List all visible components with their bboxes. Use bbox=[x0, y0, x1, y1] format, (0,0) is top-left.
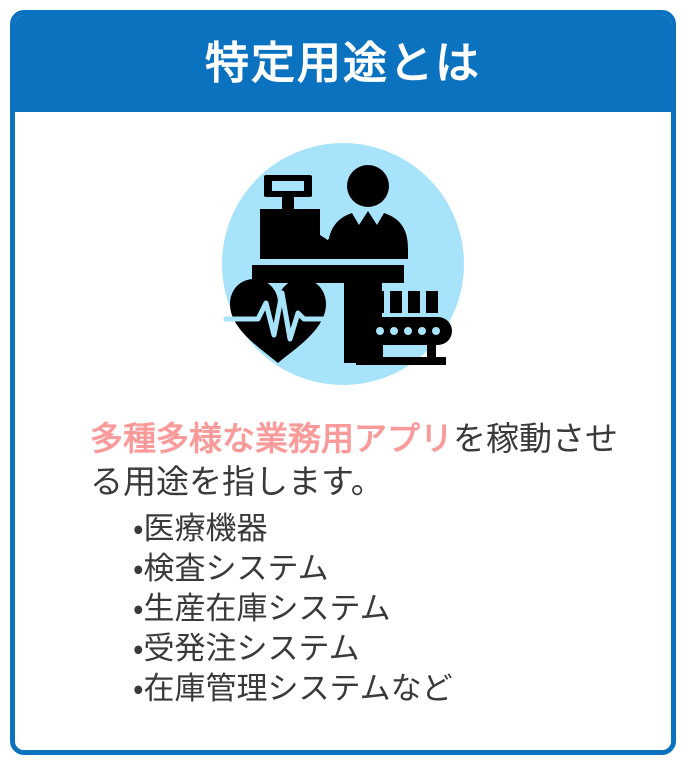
card-header: 特定用途とは bbox=[15, 15, 671, 112]
list-item: ・在庫管理システムなど bbox=[15, 669, 671, 709]
icon-wrap bbox=[15, 143, 671, 385]
list-item: ・生産在庫システム bbox=[15, 589, 671, 629]
list-item: ・検査システム bbox=[15, 549, 671, 589]
list-item-label: 在庫管理システムなど bbox=[144, 671, 453, 706]
list-item-label: 生産在庫システム bbox=[144, 591, 391, 626]
lead-paragraph: 多種多様な業務用アプリを稼動させる用途を指します。 bbox=[15, 417, 671, 503]
card-body: 多種多様な業務用アプリを稼動させる用途を指します。 ・医療機器 ・検査システム … bbox=[15, 112, 671, 750]
bullet-marker: ・ bbox=[133, 511, 144, 546]
clerk-person-icon bbox=[328, 165, 408, 259]
bullet-marker: ・ bbox=[133, 671, 144, 706]
list-item: ・医療機器 bbox=[15, 509, 671, 549]
list-item-label: 医療機器 bbox=[144, 511, 268, 546]
list-item-label: 検査システム bbox=[144, 551, 329, 586]
info-card: 特定用途とは bbox=[10, 10, 676, 755]
business-apps-icon bbox=[222, 143, 464, 385]
bullet-marker: ・ bbox=[133, 591, 144, 626]
text-block: 多種多様な業務用アプリを稼動させる用途を指します。 ・医療機器 ・検査システム … bbox=[15, 417, 671, 709]
bullet-marker: ・ bbox=[133, 631, 144, 666]
bullet-marker: ・ bbox=[133, 551, 144, 586]
page-title: 特定用途とは bbox=[205, 42, 481, 86]
list-item-label: 受発注システム bbox=[144, 631, 360, 666]
list-item: ・受発注システム bbox=[15, 629, 671, 669]
bullet-list: ・医療機器 ・検査システム ・生産在庫システム ・受発注システム ・在庫管理シス… bbox=[15, 503, 671, 709]
heart-pulse-icon bbox=[226, 279, 330, 363]
lead-highlight: 多種多様な業務用アプリ bbox=[90, 420, 453, 457]
factory-conveyor-icon bbox=[344, 279, 452, 365]
